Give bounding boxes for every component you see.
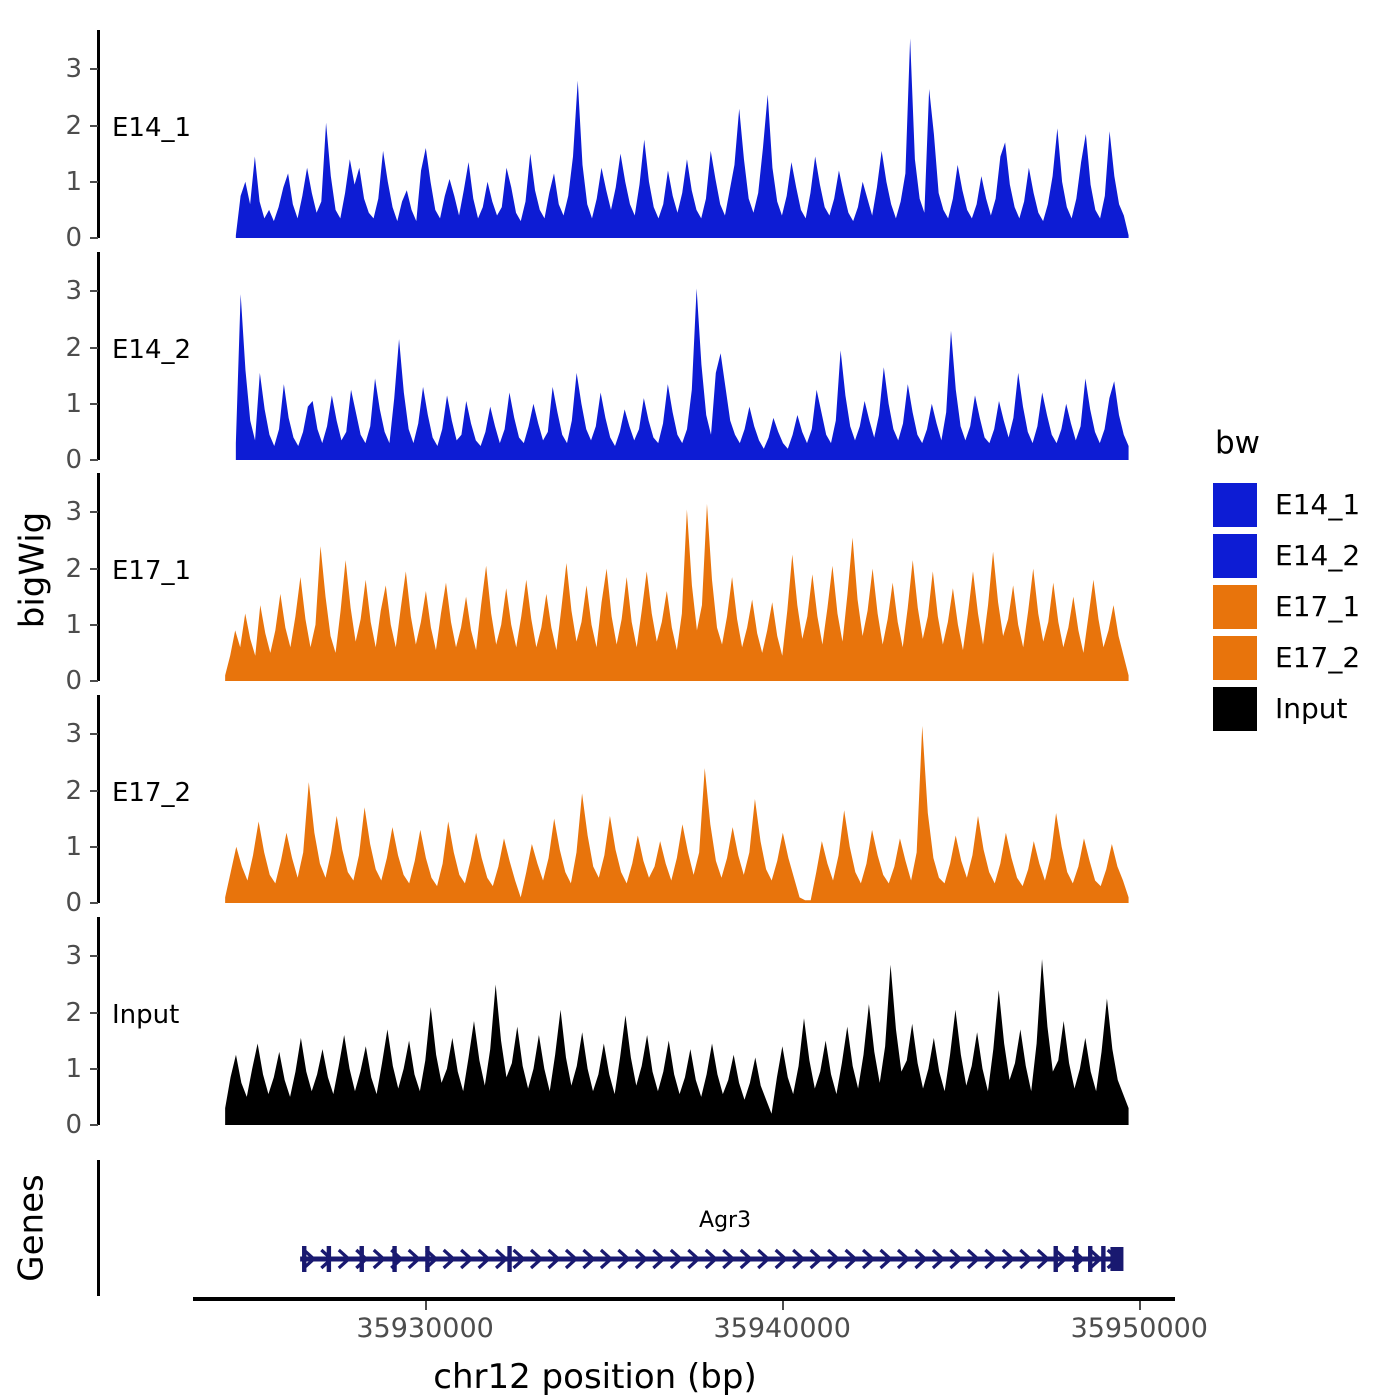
gene-exon-mark	[1054, 1246, 1058, 1272]
y-tick-label: 1	[52, 1054, 82, 1084]
gene-exon-mark	[1101, 1246, 1105, 1272]
gene-exon-mark	[360, 1246, 364, 1272]
plot-root: bigWig 0123E14_10123E14_20123E17_10123E1…	[0, 0, 1400, 1400]
y-tick-mark	[90, 290, 98, 292]
legend-item-e17_2[interactable]: E17_2	[1213, 632, 1393, 683]
signal-area	[100, 695, 1190, 903]
y-tick-label: 2	[52, 111, 82, 141]
y-tick-mark	[90, 790, 98, 792]
y-tick-mark	[90, 1124, 98, 1126]
y-tick-label: 3	[52, 54, 82, 84]
y-tick-mark	[90, 680, 98, 682]
y-tick-mark	[90, 459, 98, 461]
legend-color-swatch	[1213, 483, 1257, 527]
x-axis-line	[193, 1297, 1175, 1301]
signal-trace	[236, 38, 1129, 238]
x-axis: 359300003594000035950000 chr12 position …	[0, 1297, 1190, 1397]
y-tick-mark	[90, 902, 98, 904]
y-tick-label: 3	[52, 941, 82, 971]
gene-model-track[interactable]	[0, 1155, 1190, 1303]
y-tick-label: 0	[52, 1110, 82, 1140]
legend-item-label: E14_1	[1275, 488, 1360, 521]
legend-title: bw	[1215, 425, 1393, 461]
x-tick-label: 35940000	[713, 1313, 850, 1344]
y-tick-mark	[90, 1068, 98, 1070]
signal-panel-input: 0123Input	[0, 917, 1190, 1125]
y-tick-label: 1	[52, 167, 82, 197]
gene-body-line	[300, 1257, 1121, 1262]
legend-item-label: E17_2	[1275, 641, 1360, 674]
gene-terminal-exon	[1110, 1247, 1123, 1271]
legend-color-swatch	[1213, 687, 1257, 731]
y-tick-label: 2	[52, 333, 82, 363]
y-tick-mark	[90, 955, 98, 957]
y-tick-mark	[90, 347, 98, 349]
y-tick-label: 2	[52, 554, 82, 584]
y-tick-label: 1	[52, 832, 82, 862]
y-tick-label: 2	[52, 998, 82, 1028]
legend-item-label: E17_1	[1275, 590, 1360, 623]
y-tick-mark	[90, 511, 98, 513]
y-tick-label: 3	[52, 276, 82, 306]
gene-exon-mark	[1088, 1246, 1092, 1272]
legend-item-label: Input	[1275, 692, 1348, 725]
x-tick-mark	[1139, 1301, 1141, 1310]
signal-area	[100, 252, 1190, 460]
gene-exon-mark	[392, 1246, 396, 1272]
gene-exon-mark	[327, 1246, 331, 1272]
legend-color-swatch	[1213, 636, 1257, 680]
y-tick-label: 2	[52, 776, 82, 806]
y-tick-label: 0	[52, 445, 82, 475]
y-tick-mark	[90, 733, 98, 735]
y-tick-mark	[90, 403, 98, 405]
signal-trace	[225, 726, 1128, 903]
gene-exon-mark	[302, 1246, 306, 1272]
signal-panel-e17_2: 0123E17_2	[0, 695, 1190, 903]
signal-trace	[236, 289, 1129, 460]
y-tick-label: 1	[52, 610, 82, 640]
signal-panel-e14_1: 0123E14_1	[0, 30, 1190, 238]
legend-item-e14_1[interactable]: E14_1	[1213, 479, 1393, 530]
y-tick-mark	[90, 846, 98, 848]
gene-exon-mark	[507, 1246, 511, 1272]
genes-panel: Agr3	[0, 1155, 1190, 1303]
signal-panel-e14_2: 0123E14_2	[0, 252, 1190, 460]
gene-exon-mark	[425, 1246, 429, 1272]
y-tick-mark	[90, 68, 98, 70]
x-tick-label: 35950000	[1071, 1313, 1208, 1344]
y-tick-mark	[90, 181, 98, 183]
y-tick-label: 0	[52, 666, 82, 696]
legend-item-input[interactable]: Input	[1213, 683, 1393, 734]
y-tick-mark	[90, 237, 98, 239]
x-axis-title: chr12 position (bp)	[0, 1357, 1190, 1397]
signal-area	[100, 917, 1190, 1125]
legend: bw E14_1E14_2E17_1E17_2Input	[1213, 425, 1393, 734]
y-tick-mark	[90, 125, 98, 127]
signal-trace	[225, 504, 1128, 681]
y-tick-mark	[90, 1012, 98, 1014]
y-tick-label: 0	[52, 223, 82, 253]
y-tick-label: 3	[52, 719, 82, 749]
x-tick-mark	[425, 1301, 427, 1310]
y-tick-label: 1	[52, 389, 82, 419]
signal-panel-e17_1: 0123E17_1	[0, 473, 1190, 681]
y-tick-mark	[90, 568, 98, 570]
legend-item-e17_1[interactable]: E17_1	[1213, 581, 1393, 632]
legend-items: E14_1E14_2E17_1E17_2Input	[1213, 479, 1393, 734]
x-tick-label: 35930000	[356, 1313, 493, 1344]
gene-exon-mark	[1074, 1246, 1078, 1272]
y-tick-mark	[90, 624, 98, 626]
signal-trace	[225, 959, 1128, 1125]
x-tick-mark	[782, 1301, 784, 1310]
legend-color-swatch	[1213, 585, 1257, 629]
signal-area	[100, 30, 1190, 238]
y-tick-label: 3	[52, 497, 82, 527]
legend-color-swatch	[1213, 534, 1257, 578]
y-tick-label: 0	[52, 888, 82, 918]
signal-area	[100, 473, 1190, 681]
legend-item-label: E14_2	[1275, 539, 1360, 572]
legend-item-e14_2[interactable]: E14_2	[1213, 530, 1393, 581]
